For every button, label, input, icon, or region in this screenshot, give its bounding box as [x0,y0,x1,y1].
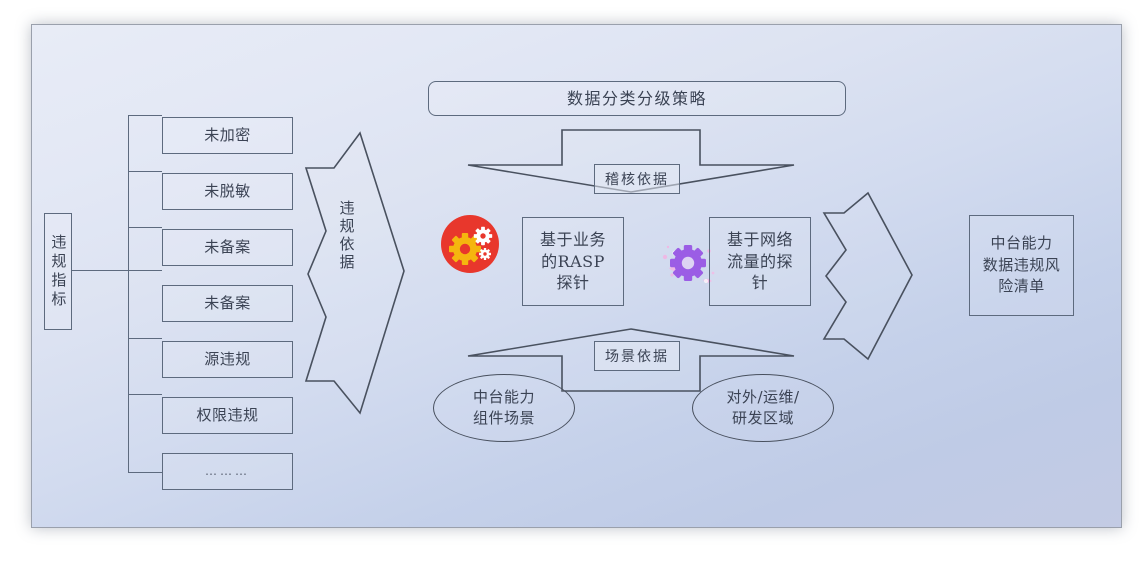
policy-bar-classification-strategy[interactable]: 数据分类分级策略 [428,81,846,116]
probe-box-network-traffic[interactable]: 基于网络 流量的探 针 [709,217,811,306]
root-node-violation-metrics[interactable]: 违规指标 [44,213,72,330]
connector-vertical-bus [128,115,129,472]
metric-box-5[interactable]: 源违规 [162,341,293,378]
connector-branch-2 [128,171,162,172]
scenario-ellipse-external-ops-rd[interactable]: 对外/运维/ 研发区域 [692,374,834,442]
screenshot-root: 违规指标 未加密 未脱敏 未备案 未备案 源违规 权限违规 ……… 违规依据 数… [0,0,1141,566]
scenario-ellipse-midplatform[interactable]: 中台能力 组件场景 [433,374,575,442]
connector-branch-6 [128,394,162,395]
metric-box-4[interactable]: 未备案 [162,285,293,322]
connector-branch-4 [128,270,162,271]
connector-branch-3 [128,227,162,228]
scenario-basis-label: 场景依据 [594,341,680,371]
output-chevron-arrow [822,191,924,361]
connector-branch-1 [128,115,162,116]
metric-box-2[interactable]: 未脱敏 [162,173,293,210]
connector-root-to-bus [72,270,129,271]
diagram-canvas: 违规指标 未加密 未脱敏 未备案 未备案 源违规 权限违规 ……… 违规依据 数… [31,24,1122,528]
connector-branch-7 [128,472,162,473]
output-box-risk-list[interactable]: 中台能力 数据违规风 险清单 [969,215,1074,316]
metric-box-1[interactable]: 未加密 [162,117,293,154]
red-gears-badge-icon [439,213,501,275]
violation-basis-label: 违规依据 [332,181,362,291]
probe-box-rasp[interactable]: 基于业务 的RASP 探针 [522,217,624,306]
audit-basis-label: 稽核依据 [594,164,680,194]
metric-box-3[interactable]: 未备案 [162,229,293,266]
metric-box-6[interactable]: 权限违规 [162,397,293,434]
connector-branch-5 [128,338,162,339]
metric-box-7[interactable]: ……… [162,453,293,490]
